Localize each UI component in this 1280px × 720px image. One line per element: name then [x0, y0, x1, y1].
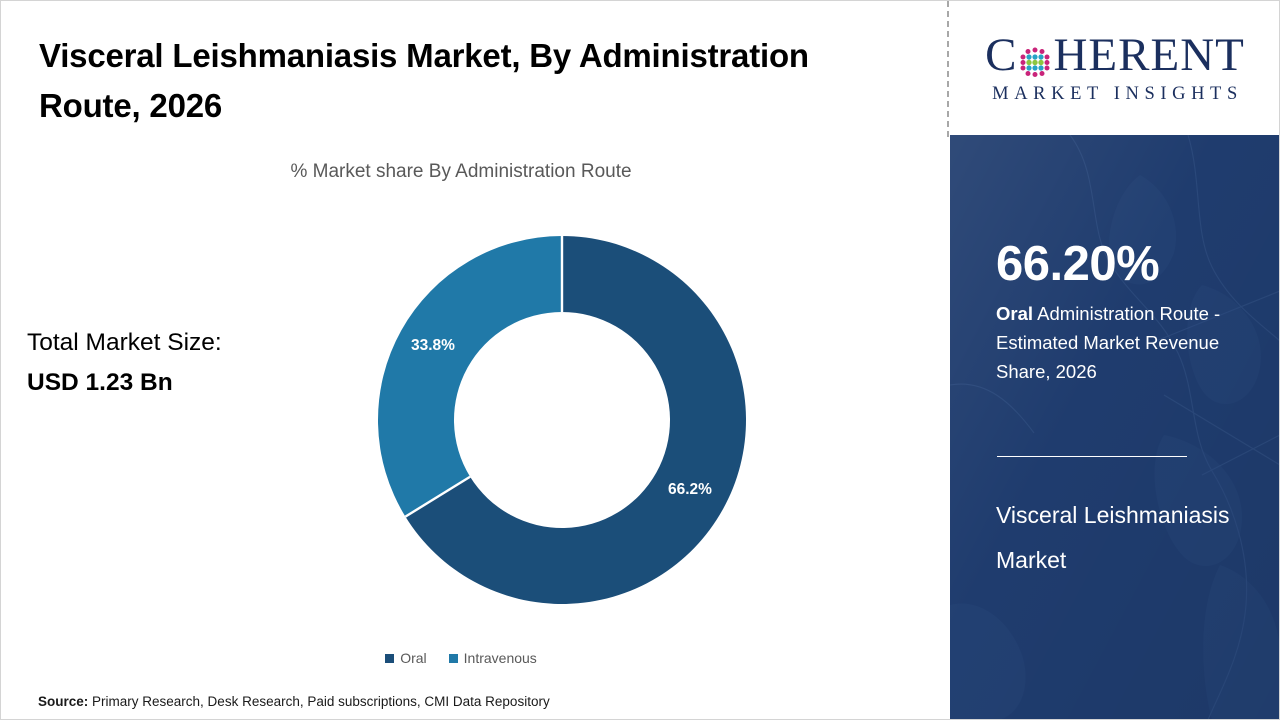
brand-logo-tagline: MARKET INSIGHTS — [987, 84, 1243, 105]
brand-logo: C — [950, 1, 1280, 135]
total-market-size-block: Total Market Size: USD 1.23 Bn — [27, 323, 327, 402]
legend-item-intravenous[interactable]: Intravenous — [449, 650, 537, 666]
brand-logo-wordmark: C — [985, 32, 1245, 79]
page-title: Visceral Leishmaniasis Market, By Admini… — [39, 31, 919, 131]
legend-swatch-intravenous — [449, 654, 458, 663]
source-note: Source: Primary Research, Desk Research,… — [38, 694, 550, 709]
stat-highlight: 66.20% Oral Administration Route - Estim… — [996, 239, 1264, 387]
legend-label-oral: Oral — [400, 650, 426, 666]
stat-value: 66.20% — [996, 239, 1264, 291]
donut-chart-svg — [378, 236, 746, 604]
chart-legend: Oral Intravenous — [1, 650, 921, 666]
total-market-size-value: USD 1.23 Bn — [27, 363, 327, 403]
source-label: Source: — [38, 694, 88, 709]
total-market-size-label: Total Market Size: — [27, 323, 327, 363]
panel-market-name: Visceral Leishmaniasis Market — [996, 493, 1266, 583]
donut-chart: 33.8% 66.2% — [378, 236, 746, 604]
globe-icon — [1018, 41, 1052, 75]
stat-description: Oral Administration Route - Estimated Ma… — [996, 300, 1264, 387]
chart-subtitle: % Market share By Administration Route — [1, 161, 921, 183]
panel-gradient-overlay — [950, 135, 1280, 720]
vertical-dashed-divider — [947, 1, 949, 137]
legend-swatch-oral — [385, 654, 394, 663]
brand-logo-rest-letters: HERENT — [1053, 32, 1244, 79]
donut-label-intravenous: 33.8% — [411, 337, 455, 355]
panel-horizontal-rule — [997, 456, 1187, 457]
brand-logo-lead-letter: C — [985, 32, 1017, 79]
donut-label-oral: 66.2% — [668, 481, 712, 499]
infographic-root: Visceral Leishmaniasis Market, By Admini… — [0, 0, 1280, 720]
legend-label-intravenous: Intravenous — [464, 650, 537, 666]
legend-item-oral[interactable]: Oral — [385, 650, 426, 666]
donut-slice-intravenous[interactable] — [378, 236, 562, 517]
left-content-panel: Visceral Leishmaniasis Market, By Admini… — [1, 1, 947, 719]
stat-description-strong: Oral — [996, 303, 1033, 324]
highlight-panel: 66.20% Oral Administration Route - Estim… — [950, 135, 1280, 720]
source-value: Primary Research, Desk Research, Paid su… — [92, 694, 550, 709]
